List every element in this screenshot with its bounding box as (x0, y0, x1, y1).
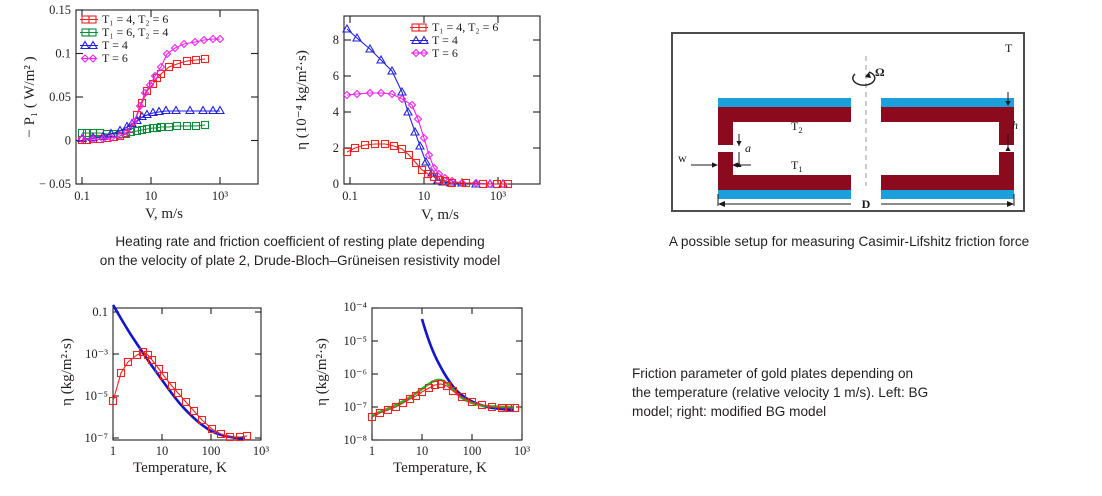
chart-friction-temperature-modified-bg: 10⁻⁴ 10⁻⁵ 10⁻⁶ 10⁻⁷ 10⁻⁸ 1 10 100 10³ Te… (300, 300, 590, 490)
caption-left-line2: on the velocity of plate 2, Drude-Bloch–… (20, 251, 580, 270)
y-axis-label: η (10⁻⁴ kg/m²·s) (294, 50, 310, 150)
series-bg-curve (113, 305, 245, 439)
y-tick-label-2: 10⁻⁶ (344, 367, 367, 381)
y-axis-ticks (344, 40, 540, 184)
diameter-arrow-left-icon (718, 201, 725, 207)
y-tick-label-0: 10⁻⁸ (344, 433, 367, 447)
legend-label-0: T₁ = 4, T₂ = 6 (432, 20, 498, 34)
upper-plate-body-right (881, 107, 1014, 145)
upper-plate-blue-right (881, 98, 1014, 107)
label-width-w: w (678, 151, 687, 165)
series-blue (343, 25, 507, 187)
x-tick-label-1: 10 (156, 444, 169, 458)
width-arrow-right-icon (712, 162, 718, 167)
x-tick-label-3: 10³ (253, 444, 270, 458)
legend-label-2: T = 4 (102, 38, 128, 52)
caption-right-bottom-line3: model; right: modified BG model (632, 402, 992, 421)
legend-label-3: T = 6 (102, 51, 128, 65)
chart-legend: T₁ = 4, T₂ = 6 T = 4 T = 6 (410, 20, 498, 60)
plot-frame (372, 308, 522, 440)
upper-plate-body-left (718, 107, 851, 145)
y-axis-label: η (kg/m²·s) (59, 338, 75, 406)
x-tick-label-2: 100 (202, 444, 221, 458)
chart-friction-velocity: 8 6 4 2 0 0.1 10 10³ V, m/s η (10⁻⁴ kg/m… (290, 0, 570, 222)
y-tick-label-6: 6 (333, 69, 339, 83)
x-tick-label-2: 10³ (490, 189, 507, 203)
legend-label-0: T₁ = 4, T₂ = 6 (102, 12, 168, 26)
height-arrow-down-icon (1005, 146, 1010, 151)
x-axis-label: Temperature, K (133, 460, 227, 476)
y-axis-ticks (113, 312, 261, 438)
y-tick-label-4: 10⁻⁴ (344, 300, 367, 314)
y-tick-label-1: 10⁻⁷ (344, 400, 367, 414)
y-tick-label-2: 2 (333, 141, 339, 155)
caption-right-bottom-line1: Friction parameter of gold plates depend… (632, 364, 992, 383)
x-tick-label-0: 1 (369, 444, 375, 458)
x-tick-label-1: 10 (418, 189, 431, 203)
upper-plate-blue-left (718, 98, 851, 107)
caption-right-bottom: Friction parameter of gold plates depend… (632, 364, 992, 421)
x-tick-label-1: 10 (145, 189, 158, 203)
x-axis-label: V, m/s (421, 207, 459, 223)
x-tick-label-1: 10 (416, 444, 429, 458)
x-tick-label-3: 10³ (514, 444, 531, 458)
lower-plate-body-left (718, 152, 851, 190)
caption-right-top: A possible setup for measuring Casimir-L… (634, 232, 1064, 251)
chart-legend: T₁ = 4, T₂ = 6 T₁ = 6, T₂ = 4 T = 4 T = … (80, 12, 168, 65)
chart-friction-temperature-bg: 0.1 10⁻³ 10⁻⁵ 10⁻⁷ 1 10 100 10³ Temperat… (55, 300, 335, 490)
series-numerical-data (369, 381, 519, 421)
legend-label-2: T = 6 (432, 46, 458, 60)
lower-plate-blue-left (718, 190, 851, 199)
y-tick-label-3: 10⁻⁵ (344, 334, 367, 348)
y-tick-label-3: 0 (65, 134, 71, 148)
x-axis-ticks (113, 308, 261, 440)
rotation-arrow-icon (853, 72, 875, 85)
series-numerical-data (110, 349, 251, 441)
y-tick-label-2: 0.05 (49, 90, 71, 104)
label-gap-a: a (745, 141, 751, 155)
y-tick-label-8: 8 (333, 33, 339, 47)
y-tick-label-4: 4 (333, 105, 340, 119)
diagram-casimir-setup: T Ω T2 T1 a w (671, 32, 1025, 212)
x-tick-label-0: 1 (110, 444, 116, 458)
label-diameter-D: D (862, 197, 871, 211)
gap-arrow-up-icon (736, 141, 741, 146)
y-axis-label: − P₁ ( W/m² ) (22, 56, 38, 137)
y-tick-label-4: − 0.05 (39, 177, 71, 191)
y-tick-label-1: 10⁻⁵ (85, 389, 108, 403)
y-tick-label-3: 0.1 (92, 305, 108, 319)
plot-frame (113, 308, 261, 440)
label-omega: Ω (875, 65, 885, 79)
x-axis-ticks (372, 308, 522, 440)
x-axis-label: Temperature, K (393, 460, 487, 476)
lower-plate-body-right (881, 152, 1014, 190)
lower-plate-blue-right (881, 190, 1014, 199)
y-axis-ticks (372, 308, 522, 440)
y-tick-label-2: 10⁻³ (85, 347, 108, 361)
y-tick-label-1: 0.1 (55, 47, 71, 61)
label-ambient-temperature: T (1005, 41, 1013, 55)
label-plate-bottom: T1 (791, 158, 803, 174)
label-height-h: h (1012, 118, 1018, 132)
x-tick-label-0: 0.1 (74, 189, 90, 203)
y-tick-label-0: 0 (333, 177, 339, 191)
caption-right-bottom-line2: the temperature (relative velocity 1 m/s… (632, 383, 992, 402)
y-tick-label-0: 10⁻⁷ (85, 431, 108, 445)
y-tick-label-0: 0.15 (49, 3, 71, 17)
y-axis-label: η (kg/m²·s) (314, 338, 330, 406)
diameter-arrow-right-icon (1007, 201, 1014, 207)
series-modified-bg-curve (422, 319, 514, 410)
x-tick-label-2: 100 (463, 444, 482, 458)
chart-heating-rate: 0.15 0.1 0.05 0 − 0.05 0.1 10 10³ V, m/s… (14, 0, 294, 222)
legend-label-1: T = 4 (432, 33, 458, 47)
x-tick-label-2: 10³ (212, 189, 229, 203)
x-axis-label: V, m/s (145, 206, 183, 222)
caption-left-line1: Heating rate and friction coefficient of… (20, 232, 580, 251)
x-tick-label-0: 0.1 (342, 189, 358, 203)
legend-label-1: T₁ = 6, T₂ = 4 (102, 25, 168, 39)
x-axis-ticks (350, 16, 498, 184)
caption-left: Heating rate and friction coefficient of… (20, 232, 580, 270)
